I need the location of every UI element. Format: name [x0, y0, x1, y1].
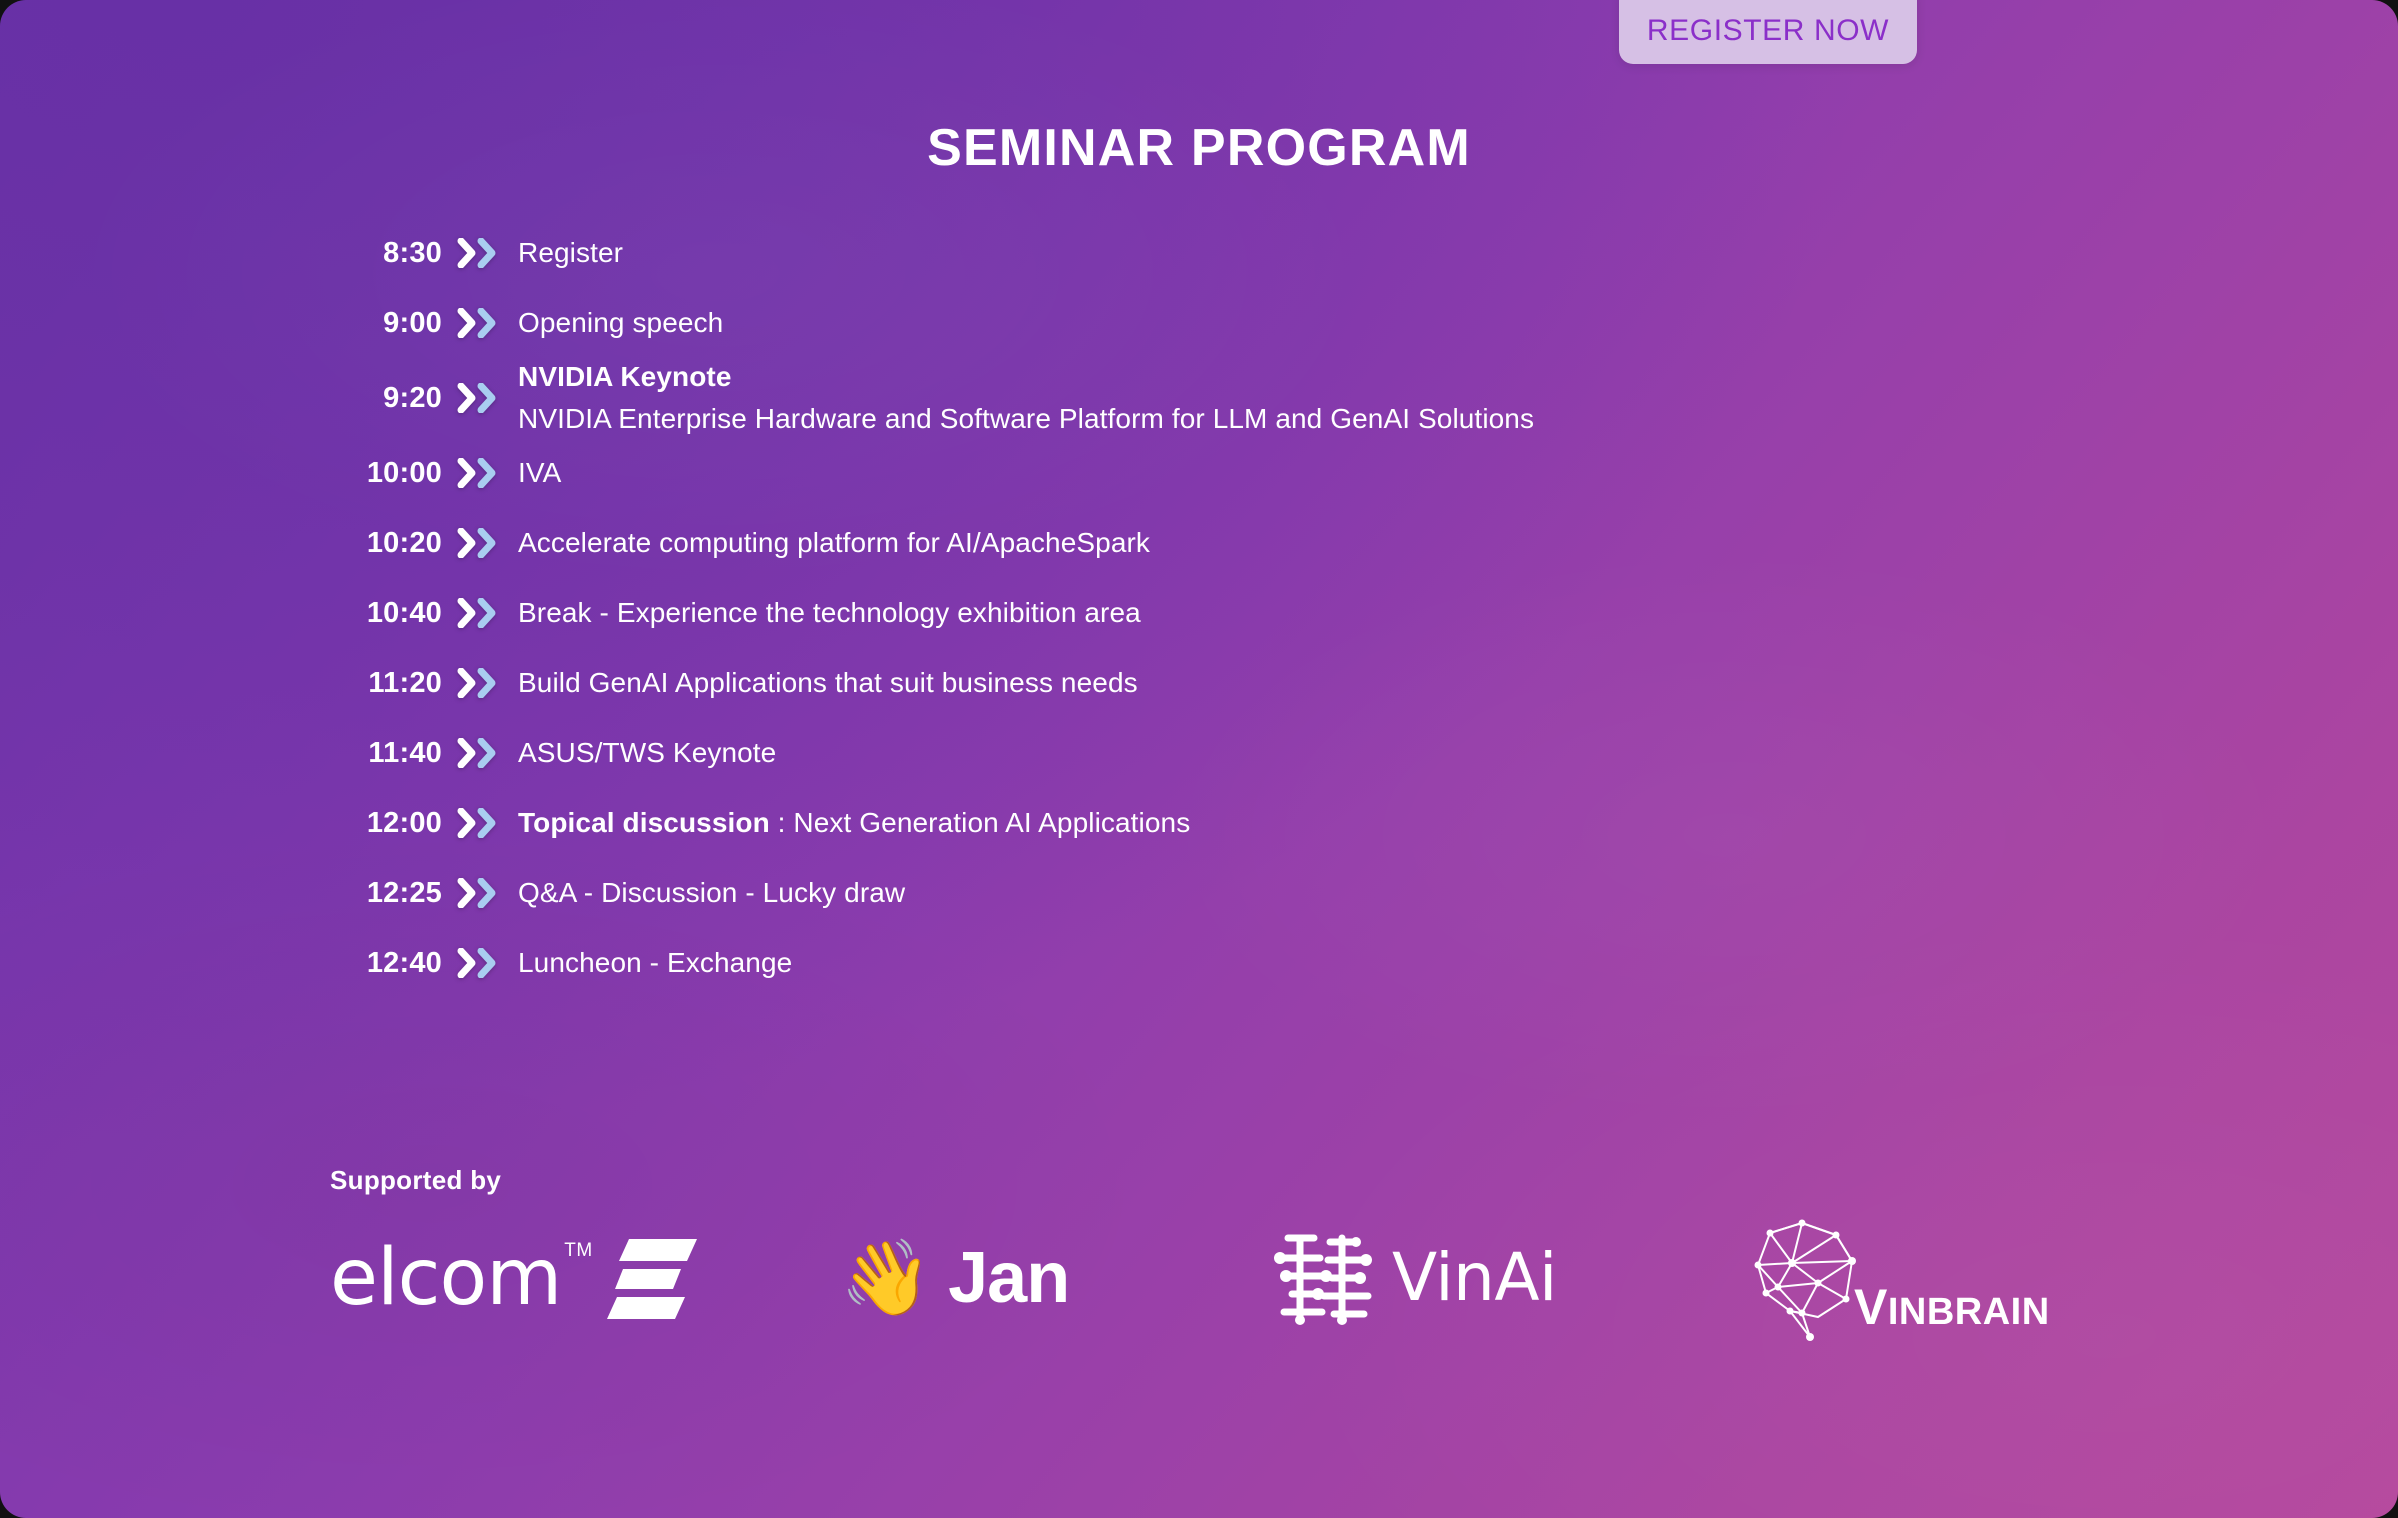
supported-by-section: Supported by elcom TM 👋 Jan [330, 1165, 2250, 1338]
chevron-wrap [442, 458, 518, 488]
double-chevron-right-icon [457, 528, 503, 558]
double-chevron-right-icon [457, 238, 503, 268]
register-now-button[interactable]: REGISTER NOW [1619, 0, 1917, 64]
agenda-text: Register [518, 234, 623, 273]
vinbrain-rest: INBRAIN [1888, 1291, 2050, 1333]
chevron-wrap [442, 598, 518, 628]
agenda-row: 12:00Topical discussion : Next Generatio… [330, 788, 2180, 858]
agenda-text: Build GenAI Applications that suit busin… [518, 664, 1138, 703]
agenda-time: 10:20 [330, 529, 442, 558]
agenda-row: 10:20Accelerate computing platform for A… [330, 508, 2180, 578]
chevron-wrap [442, 948, 518, 978]
agenda-time: 9:00 [330, 309, 442, 338]
elcom-e-icon [607, 1233, 699, 1323]
agenda-row: 9:20NVIDIA KeynoteNVIDIA Enterprise Hard… [330, 358, 2180, 438]
agenda-text: NVIDIA KeynoteNVIDIA Enterprise Hardware… [518, 358, 1534, 438]
agenda-text-plain: Build GenAI Applications that suit busin… [518, 667, 1138, 698]
agenda-row: 10:40Break - Experience the technology e… [330, 578, 2180, 648]
elcom-wordmark: elcom [330, 1239, 561, 1317]
double-chevron-right-icon [457, 668, 503, 698]
chevron-wrap [442, 738, 518, 768]
waving-hand-icon: 👋 [840, 1241, 932, 1315]
chevron-wrap [442, 528, 518, 558]
agenda-row: 12:25Q&A - Discussion - Lucky draw [330, 858, 2180, 928]
agenda-text: Luncheon - Exchange [518, 944, 792, 983]
agenda-text: IVA [518, 454, 561, 493]
agenda-row: 9:00Opening speech [330, 288, 2180, 358]
vinai-wordmark: VinAi [1392, 1245, 1557, 1311]
chevron-wrap [442, 878, 518, 908]
vinai-circuit-icon [1270, 1224, 1378, 1332]
agenda-time: 10:00 [330, 459, 442, 488]
agenda-subtitle: NVIDIA Enterprise Hardware and Software … [518, 400, 1534, 439]
chevron-wrap [442, 238, 518, 268]
agenda-time: 10:40 [330, 599, 442, 628]
agenda-time: 12:25 [330, 879, 442, 908]
sponsor-logo-jan[interactable]: 👋 Jan [840, 1218, 1069, 1338]
agenda-time: 11:40 [330, 739, 442, 768]
agenda-row: 10:00IVA [330, 438, 2180, 508]
agenda-text-bold: Topical discussion [518, 807, 770, 838]
double-chevron-right-icon [457, 738, 503, 768]
double-chevron-right-icon [457, 383, 503, 413]
agenda-row: 12:40Luncheon - Exchange [330, 928, 2180, 998]
supported-by-label: Supported by [330, 1165, 2250, 1196]
double-chevron-right-icon [457, 948, 503, 978]
agenda-text-plain: Break - Experience the technology exhibi… [518, 597, 1141, 628]
agenda-text: Accelerate computing platform for AI/Apa… [518, 524, 1150, 563]
agenda-text: Q&A - Discussion - Lucky draw [518, 874, 905, 913]
chevron-wrap [442, 808, 518, 838]
sponsor-logo-row: elcom TM 👋 Jan [330, 1218, 2250, 1338]
double-chevron-right-icon [457, 808, 503, 838]
page-title: SEMINAR PROGRAM [0, 118, 2398, 178]
agenda-row: 11:20Build GenAI Applications that suit … [330, 648, 2180, 718]
chevron-wrap [442, 383, 518, 413]
agenda-time: 9:20 [330, 384, 442, 413]
agenda-text: Break - Experience the technology exhibi… [518, 594, 1141, 633]
agenda-list: 8:30Register9:00Opening speech9:20NVIDIA… [330, 218, 2180, 998]
chevron-wrap [442, 668, 518, 698]
seminar-program-slide: REGISTER NOW SEMINAR PROGRAM 8:30Registe… [0, 0, 2398, 1518]
double-chevron-right-icon [457, 458, 503, 488]
sponsor-logo-vinai[interactable]: VinAi [1270, 1218, 1557, 1338]
agenda-time: 8:30 [330, 239, 442, 268]
trademark-icon: TM [564, 1240, 592, 1262]
double-chevron-right-icon [457, 598, 503, 628]
agenda-text-plain: Accelerate computing platform for AI/Apa… [518, 527, 1150, 558]
jan-wordmark: Jan [948, 1242, 1069, 1314]
vinbrain-wordmark: VINBRAIN [1854, 1282, 2050, 1332]
agenda-time: 12:00 [330, 809, 442, 838]
agenda-time: 11:20 [330, 669, 442, 698]
agenda-text-plain: Luncheon - Exchange [518, 947, 792, 978]
vinbrain-initial: V [1854, 1279, 1888, 1335]
agenda-text: ASUS/TWS Keynote [518, 734, 776, 773]
double-chevron-right-icon [457, 878, 503, 908]
agenda-text-plain: Register [518, 237, 623, 268]
agenda-text: Topical discussion : Next Generation AI … [518, 804, 1190, 843]
agenda-text-plain: : Next Generation AI Applications [770, 807, 1191, 838]
agenda-text: Opening speech [518, 304, 723, 343]
sponsor-logo-vinbrain[interactable]: VINBRAIN [1740, 1218, 2050, 1338]
agenda-text-plain: ASUS/TWS Keynote [518, 737, 776, 768]
agenda-text-plain: Opening speech [518, 307, 723, 338]
agenda-text-plain: Q&A - Discussion - Lucky draw [518, 877, 905, 908]
agenda-text-plain: IVA [518, 457, 561, 488]
chevron-wrap [442, 308, 518, 338]
agenda-row: 11:40ASUS/TWS Keynote [330, 718, 2180, 788]
double-chevron-right-icon [457, 308, 503, 338]
agenda-row: 8:30Register [330, 218, 2180, 288]
agenda-text-bold: NVIDIA Keynote [518, 361, 732, 392]
sponsor-logo-elcom[interactable]: elcom TM [330, 1218, 699, 1338]
agenda-time: 12:40 [330, 949, 442, 978]
